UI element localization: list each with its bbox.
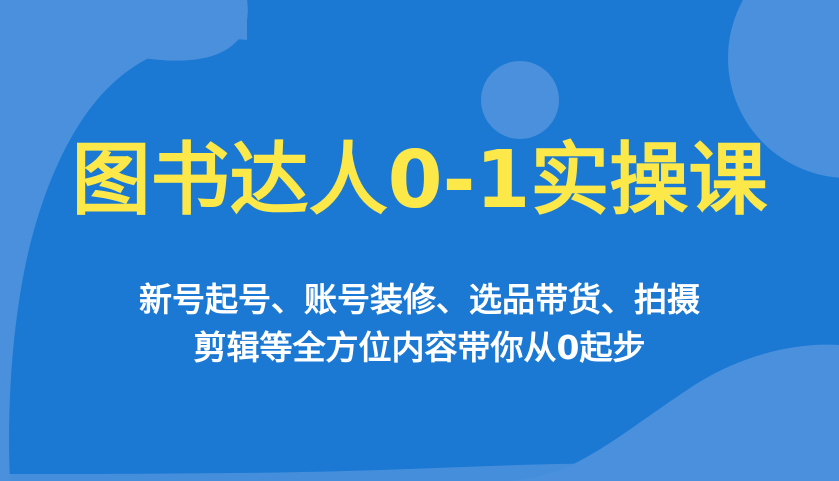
poster-subtitle: 新号起号、账号装修、选品带货、拍摄 剪辑等全方位内容带你从0起步 (0, 276, 839, 372)
subtitle-line-2: 剪辑等全方位内容带你从0起步 (0, 324, 839, 372)
page-title: 图书达人0-1实操课 (0, 134, 839, 226)
poster-content: 图书达人0-1实操课 新号起号、账号装修、选品带货、拍摄 剪辑等全方位内容带你从… (0, 0, 839, 481)
subtitle-line-1: 新号起号、账号装修、选品带货、拍摄 (0, 276, 839, 324)
course-poster: 图书达人0-1实操课 新号起号、账号装修、选品带货、拍摄 剪辑等全方位内容带你从… (0, 0, 839, 481)
